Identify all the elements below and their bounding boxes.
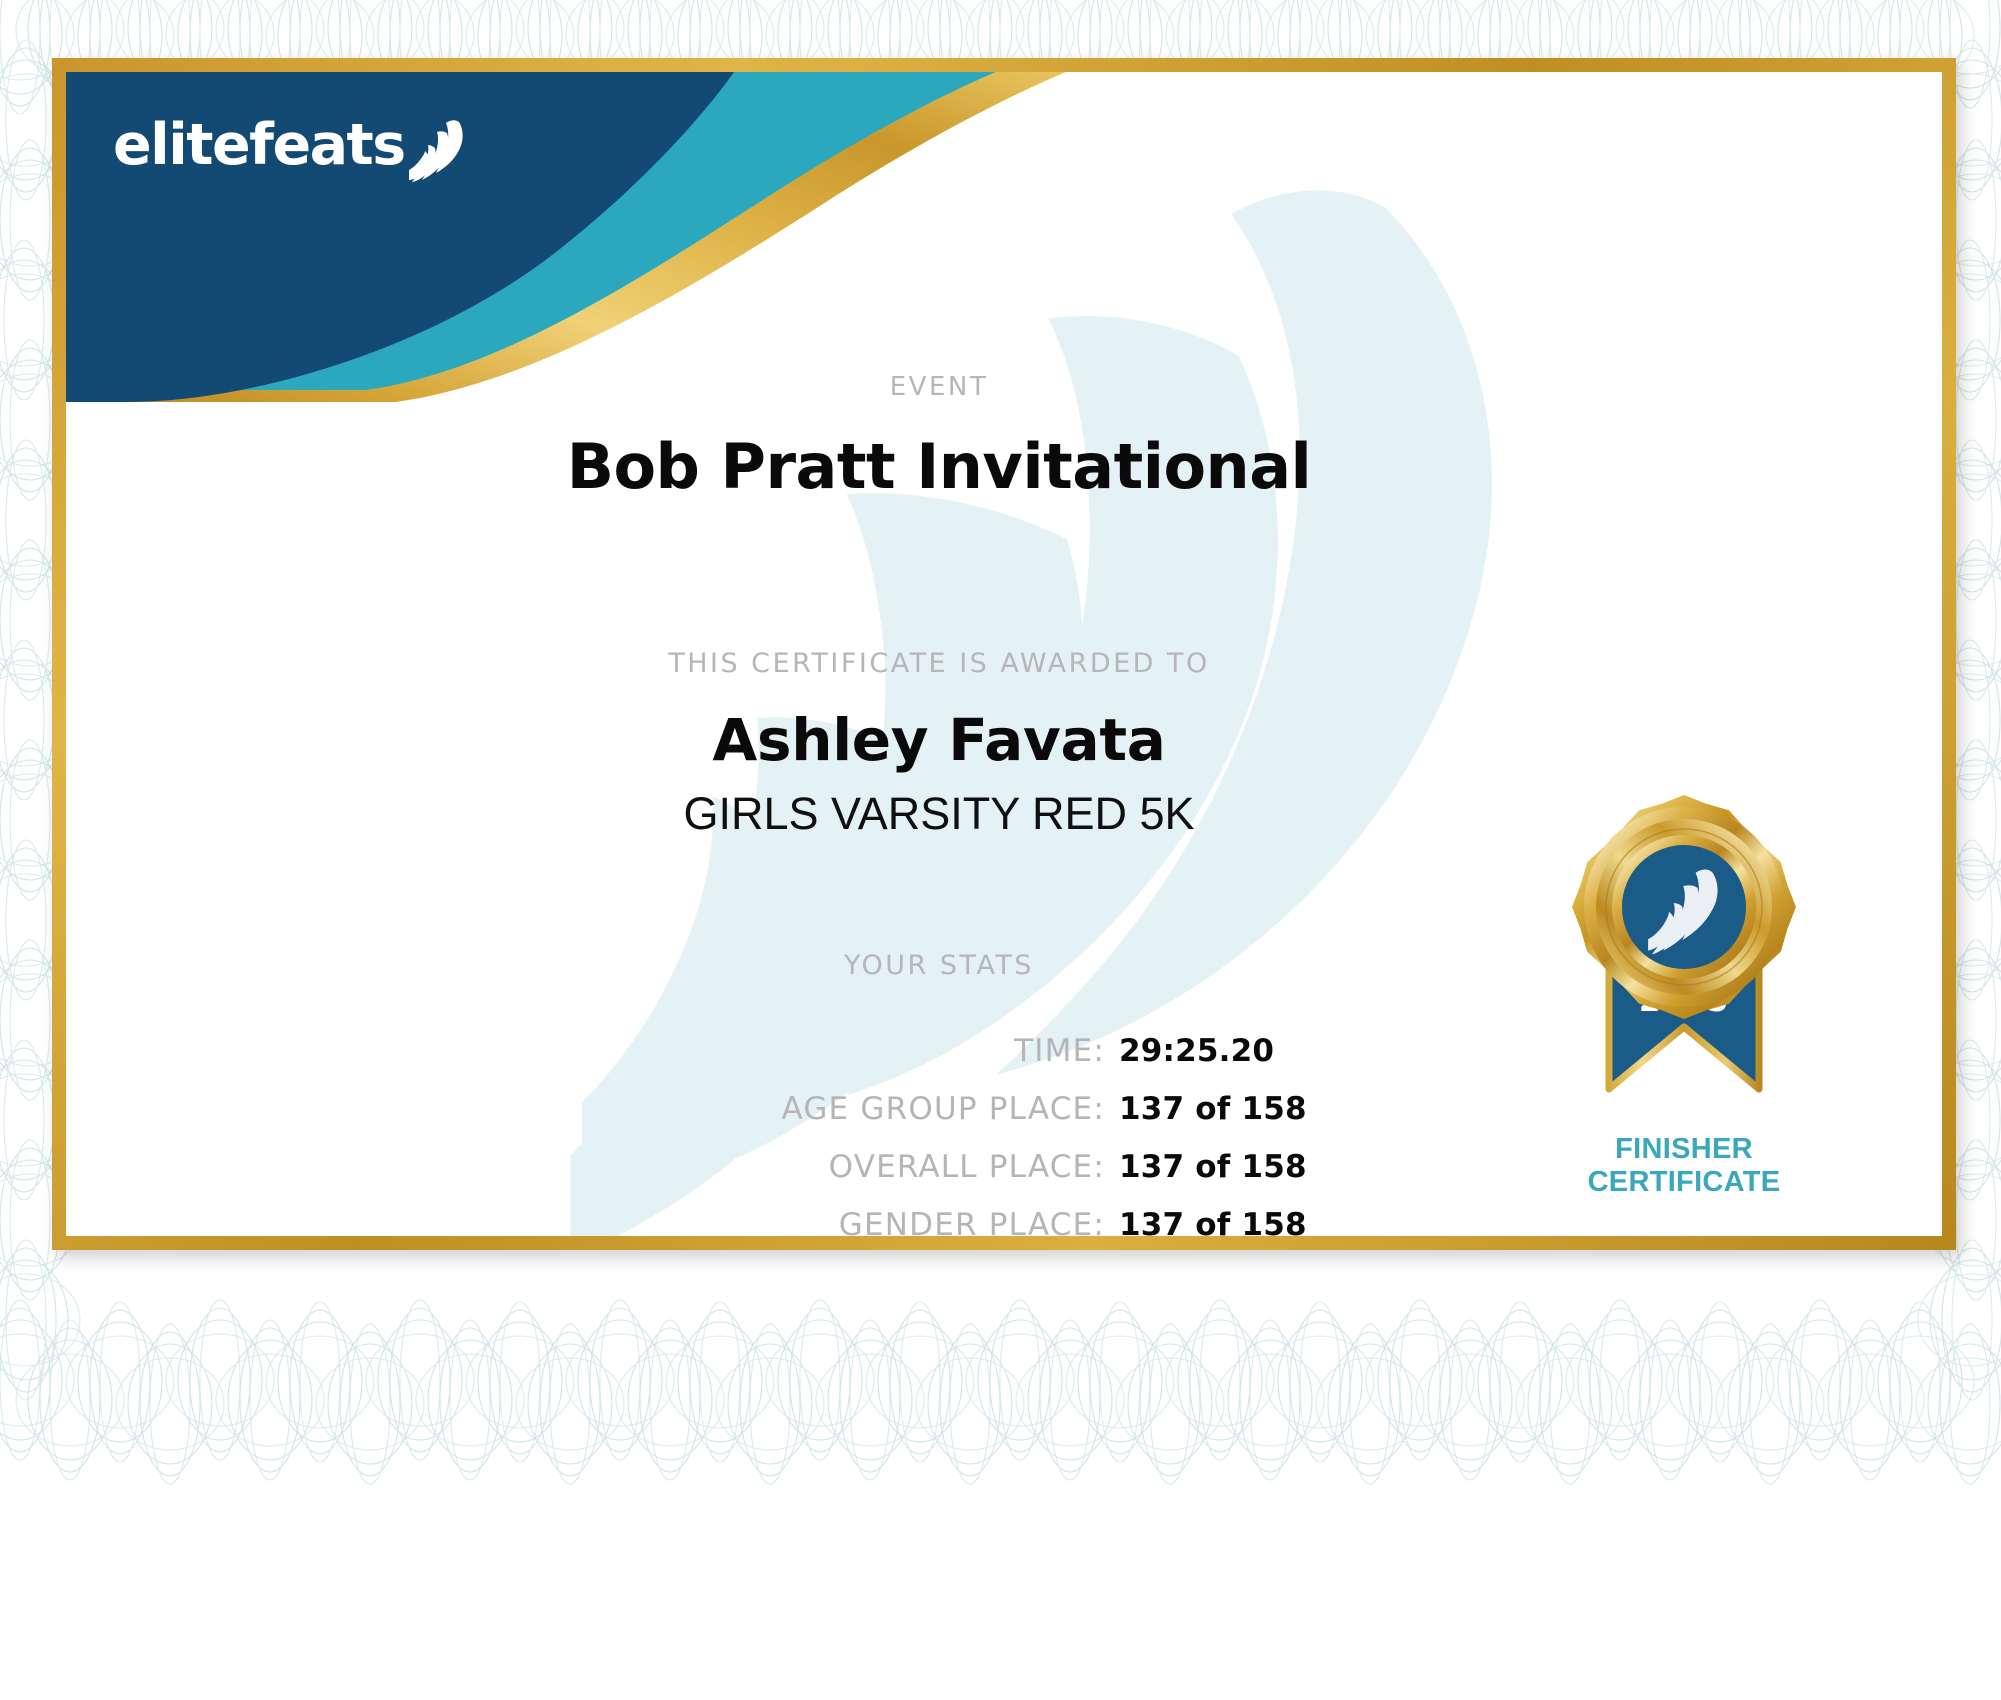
stat-label: OVERALL PLACE: bbox=[569, 1149, 1105, 1185]
stat-label: AGE GROUP PLACE: bbox=[569, 1091, 1105, 1127]
finisher-medal-seal: 2025 bbox=[1534, 789, 1834, 1198]
winged-foot-icon bbox=[409, 118, 469, 182]
stat-label: GENDER PLACE: bbox=[569, 1207, 1105, 1236]
stat-row: OVERALL PLACE: 137 of 158 bbox=[569, 1149, 1309, 1185]
medal-caption-line2: CERTIFICATE bbox=[1534, 1166, 1834, 1198]
certificate-frame: elitefeats EVENT Bob Pratt Invitational … bbox=[52, 58, 1956, 1250]
stat-row: AGE GROUP PLACE: 137 of 158 bbox=[569, 1091, 1309, 1127]
medal-graphic: 2025 bbox=[1534, 789, 1834, 1139]
stat-value: 137 of 158 bbox=[1119, 1149, 1309, 1185]
stat-row: TIME: 29:25.20 bbox=[569, 1033, 1309, 1069]
awarded-to-label: THIS CERTIFICATE IS AWARDED TO bbox=[66, 648, 1942, 679]
stat-value: 137 of 158 bbox=[1119, 1091, 1309, 1127]
certificate-body: elitefeats EVENT Bob Pratt Invitational … bbox=[66, 72, 1942, 1236]
stat-value: 29:25.20 bbox=[1119, 1033, 1309, 1069]
elitefeats-logo: elitefeats bbox=[113, 117, 469, 174]
stat-row: GENDER PLACE: 137 of 158 bbox=[569, 1207, 1309, 1236]
logo-wordmark: elitefeats bbox=[113, 117, 405, 174]
recipient-name: Ashley Favata bbox=[66, 706, 1942, 774]
certificate-page: elitefeats EVENT Bob Pratt Invitational … bbox=[0, 0, 2001, 1700]
event-name: Bob Pratt Invitational bbox=[66, 430, 1942, 503]
medal-caption: FINISHER CERTIFICATE bbox=[1534, 1133, 1834, 1198]
event-label: EVENT bbox=[66, 372, 1942, 402]
stat-value: 137 of 158 bbox=[1119, 1207, 1309, 1236]
stat-label: TIME: bbox=[569, 1033, 1105, 1069]
